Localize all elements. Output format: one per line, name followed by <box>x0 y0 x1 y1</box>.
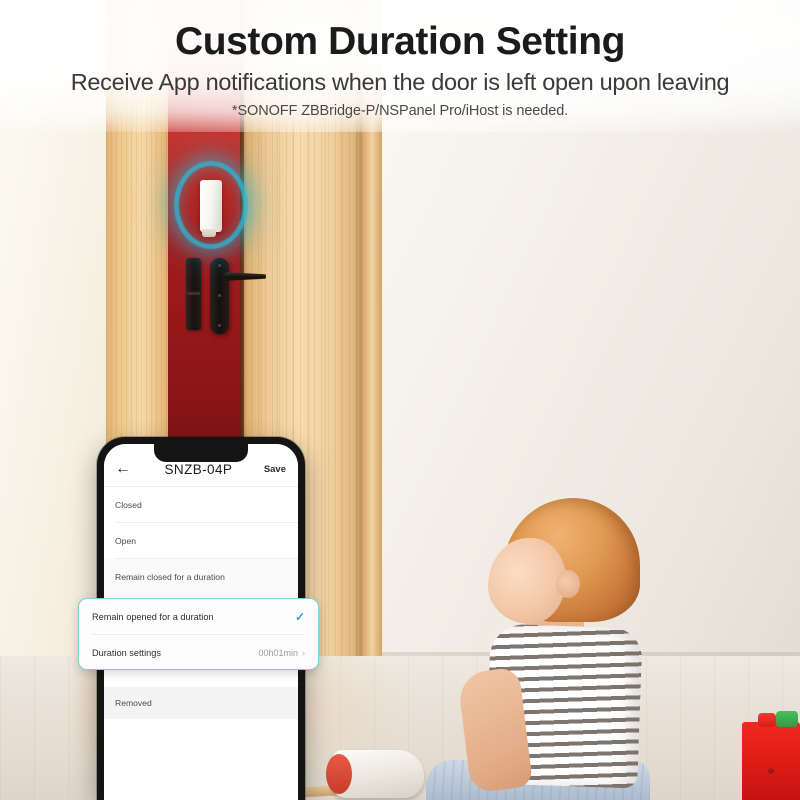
save-button[interactable]: Save <box>264 464 286 475</box>
back-arrow-icon[interactable]: ← <box>115 461 133 477</box>
door-contact-sensor <box>200 180 222 232</box>
door-latch-plate <box>186 258 201 330</box>
header-block: Custom Duration Setting Receive App noti… <box>0 0 800 119</box>
duration-settings-value: 00h01min <box>258 648 298 658</box>
child-ear <box>556 570 580 598</box>
screen-empty-area <box>104 719 298 800</box>
door-sensor-group <box>180 165 242 245</box>
card-row-remain-opened[interactable]: Remain opened for a duration ✓ <box>79 599 318 634</box>
list-item-closed[interactable]: Closed <box>104 487 298 522</box>
check-icon: ✓ <box>295 611 305 623</box>
door-handle-plate <box>210 258 229 334</box>
toy-stud <box>768 768 774 774</box>
list-item-open[interactable]: Open <box>104 523 298 558</box>
child-face <box>488 538 566 624</box>
card-option-label: Remain opened for a duration <box>92 612 295 622</box>
app-bar-title: SNZB-04P <box>133 462 264 477</box>
list-item-remain-closed[interactable]: Remain closed for a duration <box>104 559 298 594</box>
handle-screw <box>218 264 221 267</box>
handle-screw <box>218 324 221 327</box>
phone-notch <box>154 444 248 462</box>
list-item-removed[interactable]: Removed <box>104 687 298 719</box>
child-shoe <box>332 750 424 798</box>
child-photo <box>452 498 712 800</box>
page-footnote: *SONOFF ZBBridge-P/NSPanel Pro/iHost is … <box>0 103 800 119</box>
card-row-duration-settings[interactable]: Duration settings 00h01min › <box>79 635 318 670</box>
handle-screw <box>218 294 221 297</box>
chevron-right-icon: › <box>302 648 305 658</box>
page-title: Custom Duration Setting <box>0 21 800 62</box>
option-list: Closed Open Remain closed for a duration <box>104 487 298 594</box>
duration-settings-label: Duration settings <box>92 648 258 658</box>
red-toy-block <box>742 722 800 800</box>
page-subtitle: Receive App notifications when the door … <box>0 69 800 95</box>
highlight-card: Remain opened for a duration ✓ Duration … <box>78 598 319 670</box>
screenshot-stage: Custom Duration Setting Receive App noti… <box>0 0 800 800</box>
